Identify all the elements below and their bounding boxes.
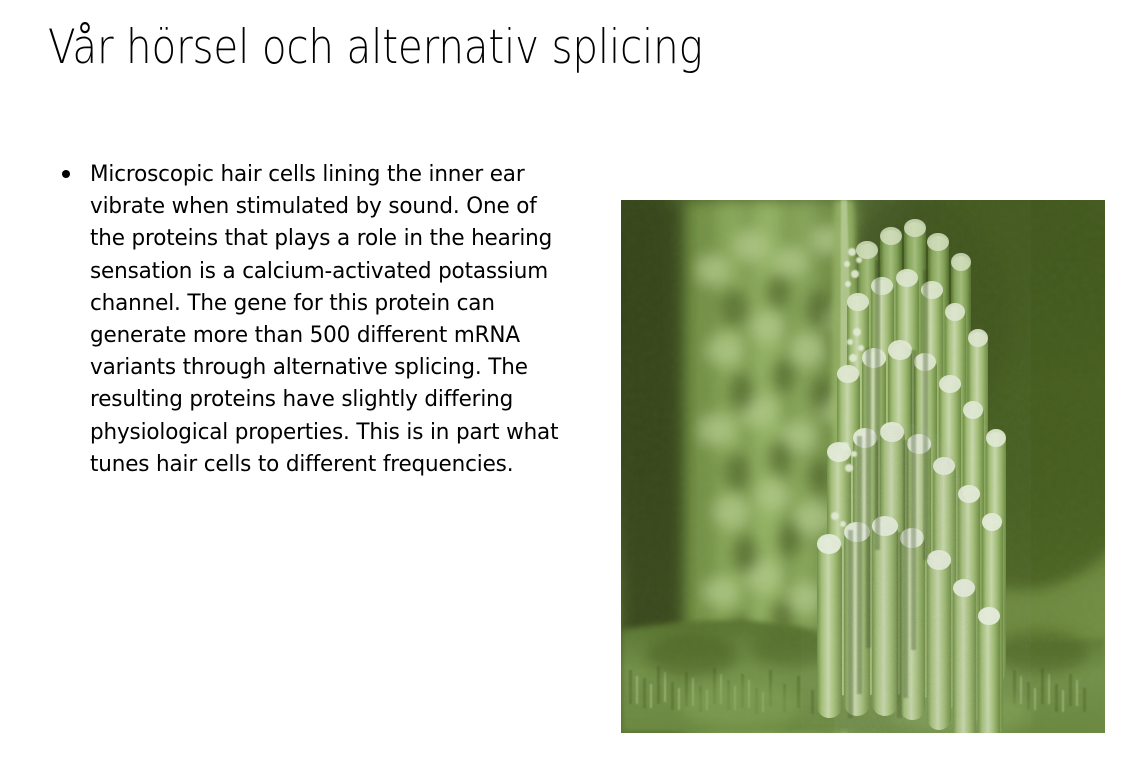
bullet-point-icon (62, 170, 70, 178)
bullet-item-text: Microscopic hair cells lining the inner … (90, 158, 560, 480)
body-text-block: Microscopic hair cells lining the inner … (56, 158, 556, 480)
page-title: Vår hörsel och alternativ splicing (48, 22, 891, 75)
slide: Vår hörsel och alternativ splicing Micro… (0, 0, 1126, 766)
list-item: Microscopic hair cells lining the inner … (56, 158, 556, 480)
hair-cell-stereocilia-image (621, 200, 1105, 733)
micrograph-graphic (621, 200, 1105, 733)
